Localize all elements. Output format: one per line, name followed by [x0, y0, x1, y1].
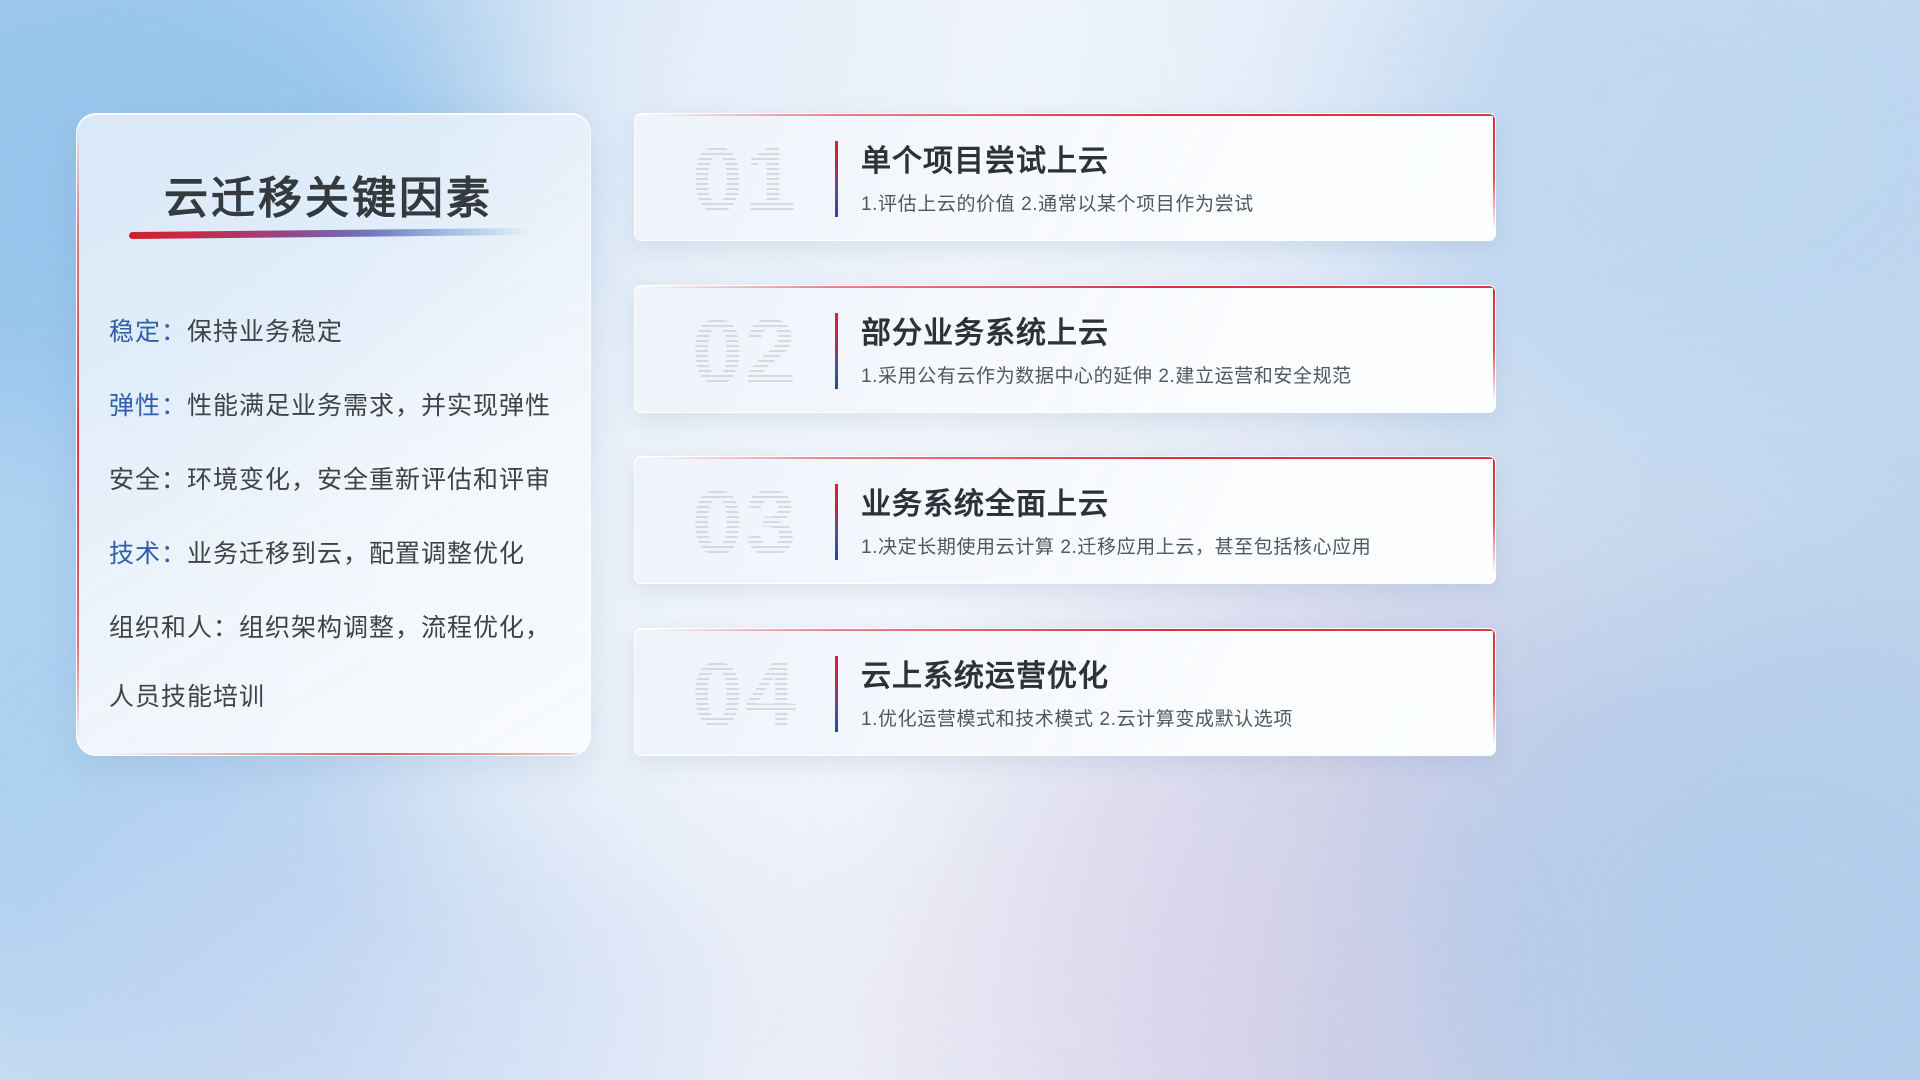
factor-key: 安全：	[109, 466, 187, 494]
card-title: 单个项目尝试上云	[861, 136, 1109, 180]
stage-card-02[interactable]: 02 部分业务系统上云 1.采用公有云作为数据中心的延伸 2.建立运营和安全规范	[634, 285, 1496, 413]
factor-list: 稳定：保持业务稳定 弹性：性能满足业务需求，并实现弹性 安全：环境变化，安全重新…	[109, 320, 572, 756]
factor-item: 弹性：性能满足业务需求，并实现弹性	[109, 394, 572, 419]
card-divider-accent	[835, 484, 838, 560]
factor-text: 人员技能培训	[109, 683, 265, 711]
factor-text: 组织架构调整，流程优化，	[239, 614, 551, 642]
factor-item: 安全：环境变化，安全重新评估和评审	[109, 468, 572, 493]
stage-card-01[interactable]: 01 单个项目尝试上云 1.评估上云的价值 2.通常以某个项目作为尝试	[634, 113, 1496, 241]
factor-item-continuation: 人员技能培训	[109, 685, 572, 710]
factor-key: 组织和人：	[109, 614, 239, 642]
stage-number-text: 02	[692, 301, 798, 403]
key-factors-panel: 云迁移关键因素 稳定：保持业务稳定 弹性：性能满足业务需求，并实现弹性 安全：环…	[76, 113, 591, 756]
stage-number-01: 01	[665, 128, 825, 232]
stage-number-text: 01	[692, 129, 798, 231]
card-title: 部分业务系统上云	[861, 308, 1109, 352]
factor-item: 稳定：保持业务稳定	[109, 320, 572, 345]
stage-number-04: 04	[665, 643, 825, 747]
stage-number-text: 03	[692, 472, 798, 574]
factor-key: 弹性：	[109, 392, 187, 420]
factor-item: 组织和人：组织架构调整，流程优化，	[109, 616, 572, 641]
factor-text: 环境变化，安全重新评估和评审	[187, 466, 551, 494]
factor-key: 稳定：	[109, 318, 187, 346]
card-divider-accent	[835, 656, 838, 732]
page-title: 云迁移关键因素	[164, 162, 493, 226]
stage-number-03: 03	[665, 471, 825, 575]
slide-stage: 云迁移关键因素 稳定：保持业务稳定 弹性：性能满足业务需求，并实现弹性 安全：环…	[0, 0, 1920, 1080]
card-divider-accent	[835, 313, 838, 389]
stage-number-text: 04	[692, 644, 798, 746]
card-subtitle: 1.采用公有云作为数据中心的延伸 2.建立运营和安全规范	[861, 361, 1352, 388]
factor-text: 保持业务稳定	[187, 318, 343, 346]
stage-card-03[interactable]: 03 业务系统全面上云 1.决定长期使用云计算 2.迁移应用上云，甚至包括核心应…	[634, 456, 1496, 584]
factor-text: 性能满足业务需求，并实现弹性	[187, 392, 551, 420]
factor-text: 业务迁移到云，配置调整优化	[187, 540, 525, 568]
card-subtitle: 1.优化运营模式和技术模式 2.云计算变成默认选项	[861, 704, 1293, 731]
stage-number-02: 02	[665, 300, 825, 404]
factor-item: 技术：业务迁移到云，配置调整优化	[109, 542, 572, 567]
card-divider-accent	[835, 141, 838, 217]
card-title: 业务系统全面上云	[861, 479, 1109, 523]
factor-key: 技术：	[109, 540, 187, 568]
card-subtitle: 1.决定长期使用云计算 2.迁移应用上云，甚至包括核心应用	[861, 532, 1371, 559]
card-title: 云上系统运营优化	[861, 651, 1109, 695]
stage-card-04[interactable]: 04 云上系统运营优化 1.优化运营模式和技术模式 2.云计算变成默认选项	[634, 628, 1496, 756]
title-underline-accent	[129, 228, 529, 239]
card-subtitle: 1.评估上云的价值 2.通常以某个项目作为尝试	[861, 189, 1254, 216]
